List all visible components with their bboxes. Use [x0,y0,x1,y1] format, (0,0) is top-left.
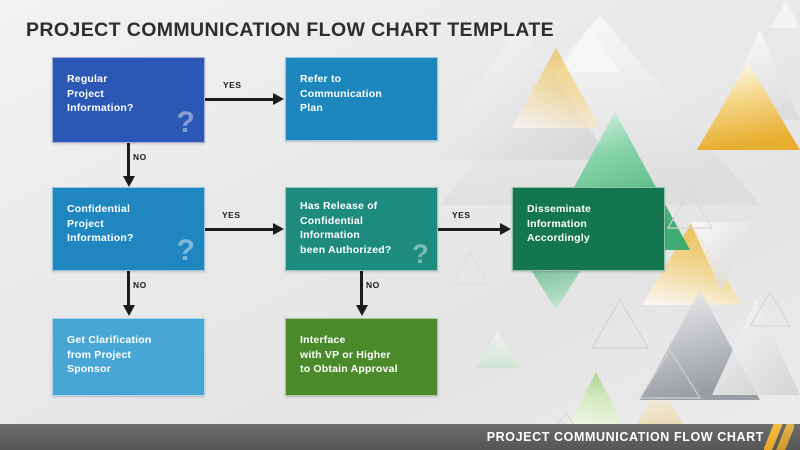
node-label: Disseminate Information Accordingly [527,202,652,246]
edge-confidential-to-hasrelease [205,228,273,231]
node-label: Has Release of Confidential Information … [300,199,425,257]
edge-label-regular-no: NO [133,152,147,162]
arrowhead-regular-to-confidential [123,176,135,187]
footer-title: PROJECT COMMUNICATION FLOW CHART [487,430,764,444]
arrowhead-confidential-to-hasrelease [273,223,284,235]
slide-canvas: PROJECT COMMUNICATION FLOW CHART TEMPLAT… [0,0,800,450]
edge-hasrelease-to-interface [360,271,363,305]
edge-label-confidential-yes: YES [222,210,241,220]
title-bar: PROJECT COMMUNICATION FLOW CHART TEMPLAT… [0,14,560,46]
node-disseminate-information-accordingly[interactable]: Disseminate Information Accordingly [512,187,665,271]
node-label: Regular Project Information? [67,72,192,116]
edge-label-regular-yes: YES [223,80,242,90]
edge-label-hasrelease-no: NO [366,280,380,290]
edge-confidential-to-getclar [127,271,130,305]
edge-hasrelease-to-disseminate [438,228,500,231]
page-title: PROJECT COMMUNICATION FLOW CHART TEMPLAT… [0,19,554,42]
node-has-release-been-authorized[interactable]: Has Release of Confidential Information … [285,187,438,271]
node-interface-with-vp-or-higher[interactable]: Interface with VP or Higher to Obtain Ap… [285,318,438,396]
node-regular-project-information[interactable]: Regular Project Information? ? [52,57,205,143]
arrowhead-regular-to-refer [273,93,284,105]
node-refer-to-communication-plan[interactable]: Refer to Communication Plan [285,57,438,141]
node-label: Refer to Communication Plan [300,72,425,116]
node-label: Interface with VP or Higher to Obtain Ap… [300,333,425,377]
edge-regular-to-confidential [127,143,130,176]
edge-label-confidential-no: NO [133,280,147,290]
node-label: Confidential Project Information? [67,202,192,246]
node-confidential-project-information[interactable]: Confidential Project Information? ? [52,187,205,271]
node-label: Get Clarification from Project Sponsor [67,333,192,377]
footer-accent-stripes-icon [764,424,794,450]
footer-bar: PROJECT COMMUNICATION FLOW CHART [0,424,800,450]
edge-label-hasrelease-yes: YES [452,210,471,220]
arrowhead-hasrelease-to-interface [356,305,368,316]
node-get-clarification-from-project-sponsor[interactable]: Get Clarification from Project Sponsor [52,318,205,396]
edge-regular-to-refer [205,98,273,101]
arrowhead-confidential-to-getclar [123,305,135,316]
arrowhead-hasrelease-to-disseminate [500,223,511,235]
